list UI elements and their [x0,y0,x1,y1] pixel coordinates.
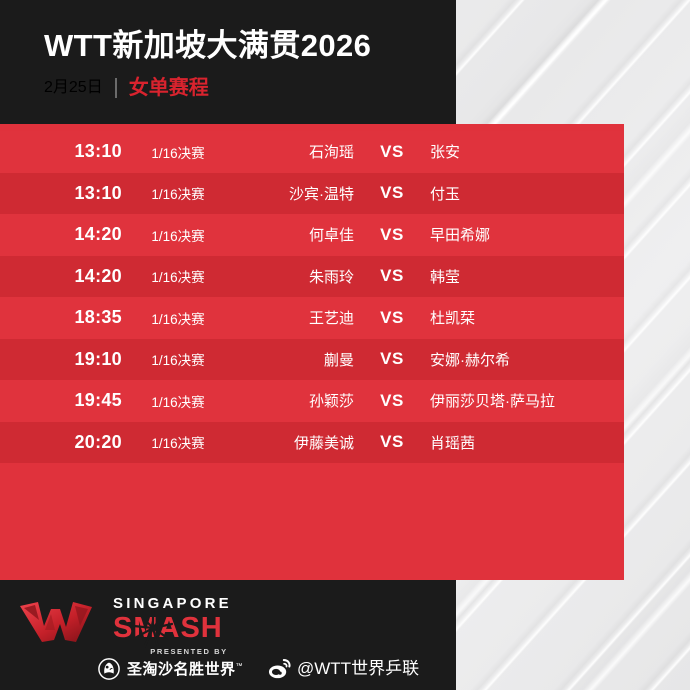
weibo-icon [268,657,291,680]
versus-label: VS [354,391,430,411]
header-divider [115,78,117,98]
presented-by-text: PRESENTED BY [113,648,265,656]
smash-singapore-text: SINGAPORE [113,596,273,611]
versus-label: VS [354,225,430,245]
header-event-label: 女单赛程 [129,78,209,98]
match-round: 1/16决赛 [122,266,234,286]
match-time: 14:20 [0,266,122,287]
versus-label: VS [354,266,430,286]
player-one-name: 蒯曼 [234,349,354,370]
match-time: 18:35 [0,307,122,328]
player-one-name: 王艺迪 [234,307,354,328]
match-row: 19:451/16决赛孙颖莎VS伊丽莎贝塔·萨马拉 [0,380,624,422]
match-round: 1/16决赛 [122,142,234,162]
match-row: 13:101/16决赛沙宾·温特VS付玉 [0,173,624,215]
match-row: 20:201/16决赛伊藤美诚VS肖瑶茜 [0,422,624,464]
versus-label: VS [354,142,430,162]
match-time: 19:45 [0,390,122,411]
player-two-name: 肖瑶茜 [430,432,624,453]
player-two-name: 安娜·赫尔希 [430,349,624,370]
match-round: 1/16决赛 [122,225,234,245]
sponsor-logo: 圣淘沙名胜世界™ [98,658,243,680]
resorts-world-sentosa-icon [98,658,120,680]
sponsor-name: 圣淘沙名胜世界™ [127,662,243,677]
header-date: 2月25日 [44,80,103,96]
match-row: 13:101/16决赛石洵瑶VS张安 [0,131,624,173]
schedule-poster: WTT新加坡大满贯2026 2月25日 女单赛程 13:101/16决赛石洵瑶V… [0,0,690,690]
player-one-name: 孙颖莎 [234,390,354,411]
match-time: 14:20 [0,224,122,245]
match-row: 19:101/16决赛蒯曼VS安娜·赫尔希 [0,339,624,381]
match-row: 14:201/16决赛何卓佳VS早田希娜 [0,214,624,256]
versus-label: VS [354,349,430,369]
singapore-smash-logo: SINGAPORE SMASH [18,592,268,654]
match-list: 13:101/16决赛石洵瑶VS张安13:101/16决赛沙宾·温特VS付玉14… [0,131,624,463]
versus-label: VS [354,183,430,203]
match-round: 1/16决赛 [122,391,234,411]
player-two-name: 付玉 [430,183,624,204]
match-round: 1/16决赛 [122,432,234,452]
match-round: 1/16决赛 [122,183,234,203]
player-one-name: 沙宾·温特 [234,183,354,204]
header-subtitle: 2月25日 女单赛程 [44,78,209,98]
player-two-name: 韩莹 [430,266,624,287]
header-panel: WTT新加坡大满贯2026 2月25日 女单赛程 [0,0,456,124]
match-time: 13:10 [0,183,122,204]
player-one-name: 朱雨玲 [234,266,354,287]
footer-panel: SINGAPORE SMASH [0,580,456,690]
versus-label: VS [354,308,430,328]
smash-word-text: SMASH [113,612,223,644]
player-one-name: 石洵瑶 [234,141,354,162]
smash-wordmark: SINGAPORE SMASH [113,592,273,656]
match-time: 19:10 [0,349,122,370]
weibo-handle-text: @WTT世界乒联 [297,660,419,677]
sponsor-trademark: ™ [236,663,244,670]
wtt-w-mark-icon [18,600,106,644]
match-row: 18:351/16决赛王艺迪VS杜凯栞 [0,297,624,339]
player-one-name: 何卓佳 [234,224,354,245]
player-two-name: 伊丽莎贝塔·萨马拉 [430,390,624,411]
match-round: 1/16决赛 [122,349,234,369]
schedule-panel: 13:101/16决赛石洵瑶VS张安13:101/16决赛沙宾·温特VS付玉14… [0,124,624,580]
player-two-name: 杜凯栞 [430,307,624,328]
match-time: 20:20 [0,432,122,453]
match-row: 14:201/16决赛朱雨玲VS韩莹 [0,256,624,298]
player-two-name: 张安 [430,141,624,162]
weibo-handle-group: @WTT世界乒联 [268,657,419,680]
player-two-name: 早田希娜 [430,224,624,245]
match-round: 1/16决赛 [122,308,234,328]
match-time: 13:10 [0,141,122,162]
player-one-name: 伊藤美诚 [234,432,354,453]
versus-label: VS [354,432,430,452]
smash-word-wrap: SMASH [113,614,273,643]
page-title: WTT新加坡大满贯2026 [44,30,371,61]
sponsor-name-text: 圣淘沙名胜世界 [127,661,236,678]
